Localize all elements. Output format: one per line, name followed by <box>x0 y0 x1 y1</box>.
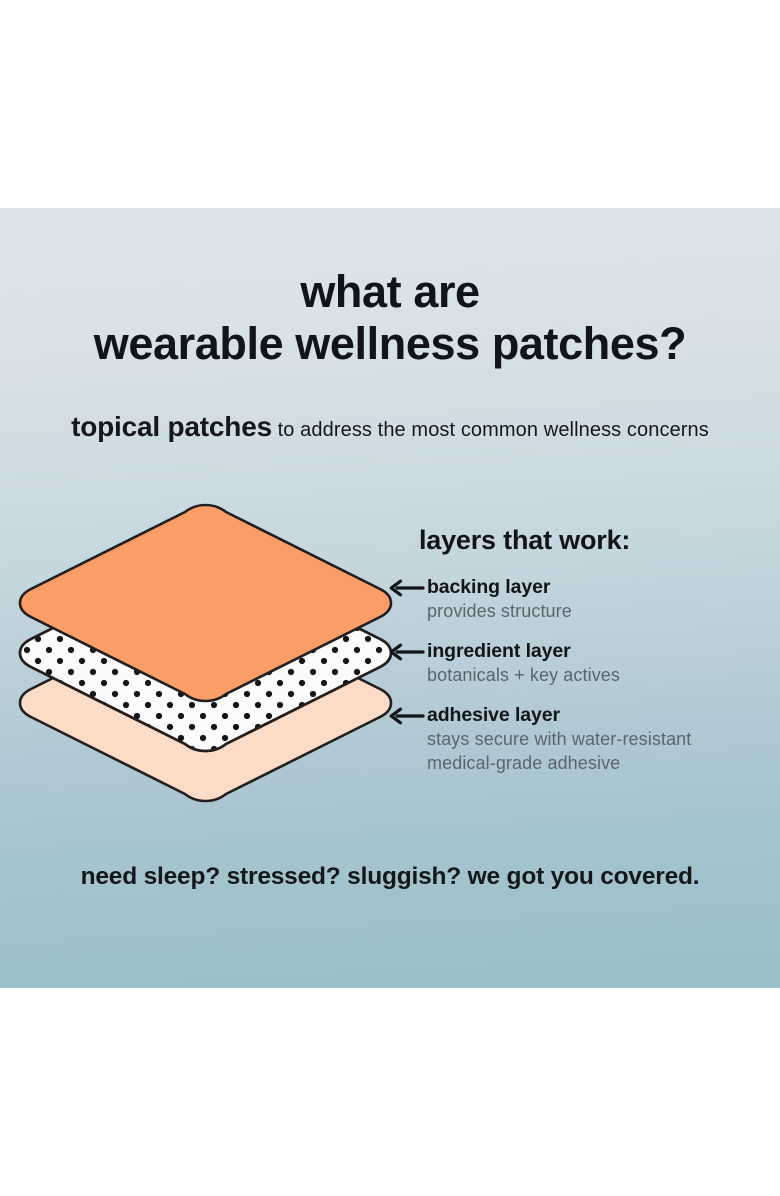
legend-description: stays secure with water-resistant <box>427 729 691 749</box>
page-title: what are wearable wellness patches? <box>0 266 780 370</box>
arrow-left-icon <box>389 704 427 725</box>
arrow-left-icon <box>389 640 427 661</box>
legend-description-2: medical-grade adhesive <box>427 753 620 773</box>
legend-row-ingredient: ingredient layer botanicals + key active… <box>419 640 774 687</box>
legend-row-backing: backing layer provides structure <box>419 576 774 623</box>
legend-heading: layers that work: <box>419 525 774 556</box>
footer-tagline: need sleep? stressed? sluggish? we got y… <box>0 863 780 891</box>
subtitle: topical patches to address the most comm… <box>0 411 780 443</box>
subtitle-rest: to address the most common wellness conc… <box>278 419 709 441</box>
legend-label: backing layer <box>427 576 550 598</box>
patch-layers-diagram <box>18 503 393 803</box>
graphic-panel: what are wearable wellness patches? topi… <box>0 208 780 988</box>
layers-legend: layers that work: backing layer provides… <box>419 525 774 775</box>
legend-row-adhesive: adhesive layer stays secure with water-r… <box>419 704 774 775</box>
legend-description: botanicals + key actives <box>427 665 620 685</box>
arrow-left-icon <box>389 576 427 597</box>
title-line-1: what are <box>0 266 780 318</box>
title-line-2: wearable wellness patches? <box>0 318 780 370</box>
legend-label: adhesive layer <box>427 704 560 726</box>
legend-description: provides structure <box>427 601 572 621</box>
legend-label: ingredient layer <box>427 640 571 662</box>
infographic-page: what are wearable wellness patches? topi… <box>0 0 780 1196</box>
subtitle-emphasis: topical patches <box>71 411 272 442</box>
